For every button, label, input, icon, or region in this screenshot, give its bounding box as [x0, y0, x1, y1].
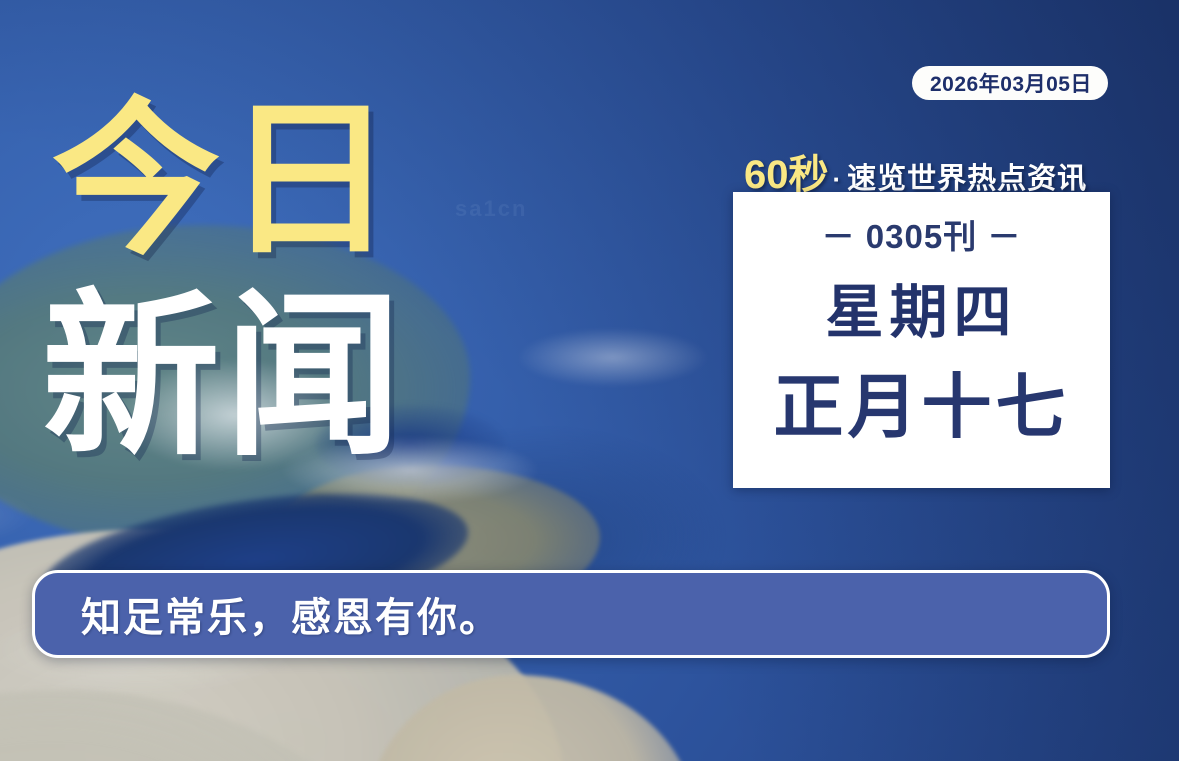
- watermark-text: sa1cn: [455, 196, 527, 222]
- tagline-separator: ·: [833, 164, 842, 195]
- lunar-date-label: 正月十七: [774, 372, 1070, 442]
- quote-banner: 知足常乐，感恩有你。: [32, 570, 1110, 658]
- issue-number: － 0305刊 －: [822, 210, 1022, 258]
- quote-text: 知足常乐，感恩有你。: [81, 585, 501, 643]
- weekday-label: 星期四: [825, 284, 1017, 342]
- page-title-line1: 今日: [52, 96, 400, 264]
- tagline-description: 速览世界热点资讯: [847, 155, 1087, 197]
- date-badge: 2026年03月05日: [912, 66, 1108, 100]
- date-info-card: － 0305刊 － 星期四 正月十七: [733, 192, 1110, 488]
- page-title-line2: 新闻: [42, 288, 406, 466]
- date-badge-label: 2026年03月05日: [930, 68, 1092, 98]
- news-poster: sa1cn 2026年03月05日 今日 新闻 60秒 · 速览世界热点资讯 －…: [0, 0, 1179, 761]
